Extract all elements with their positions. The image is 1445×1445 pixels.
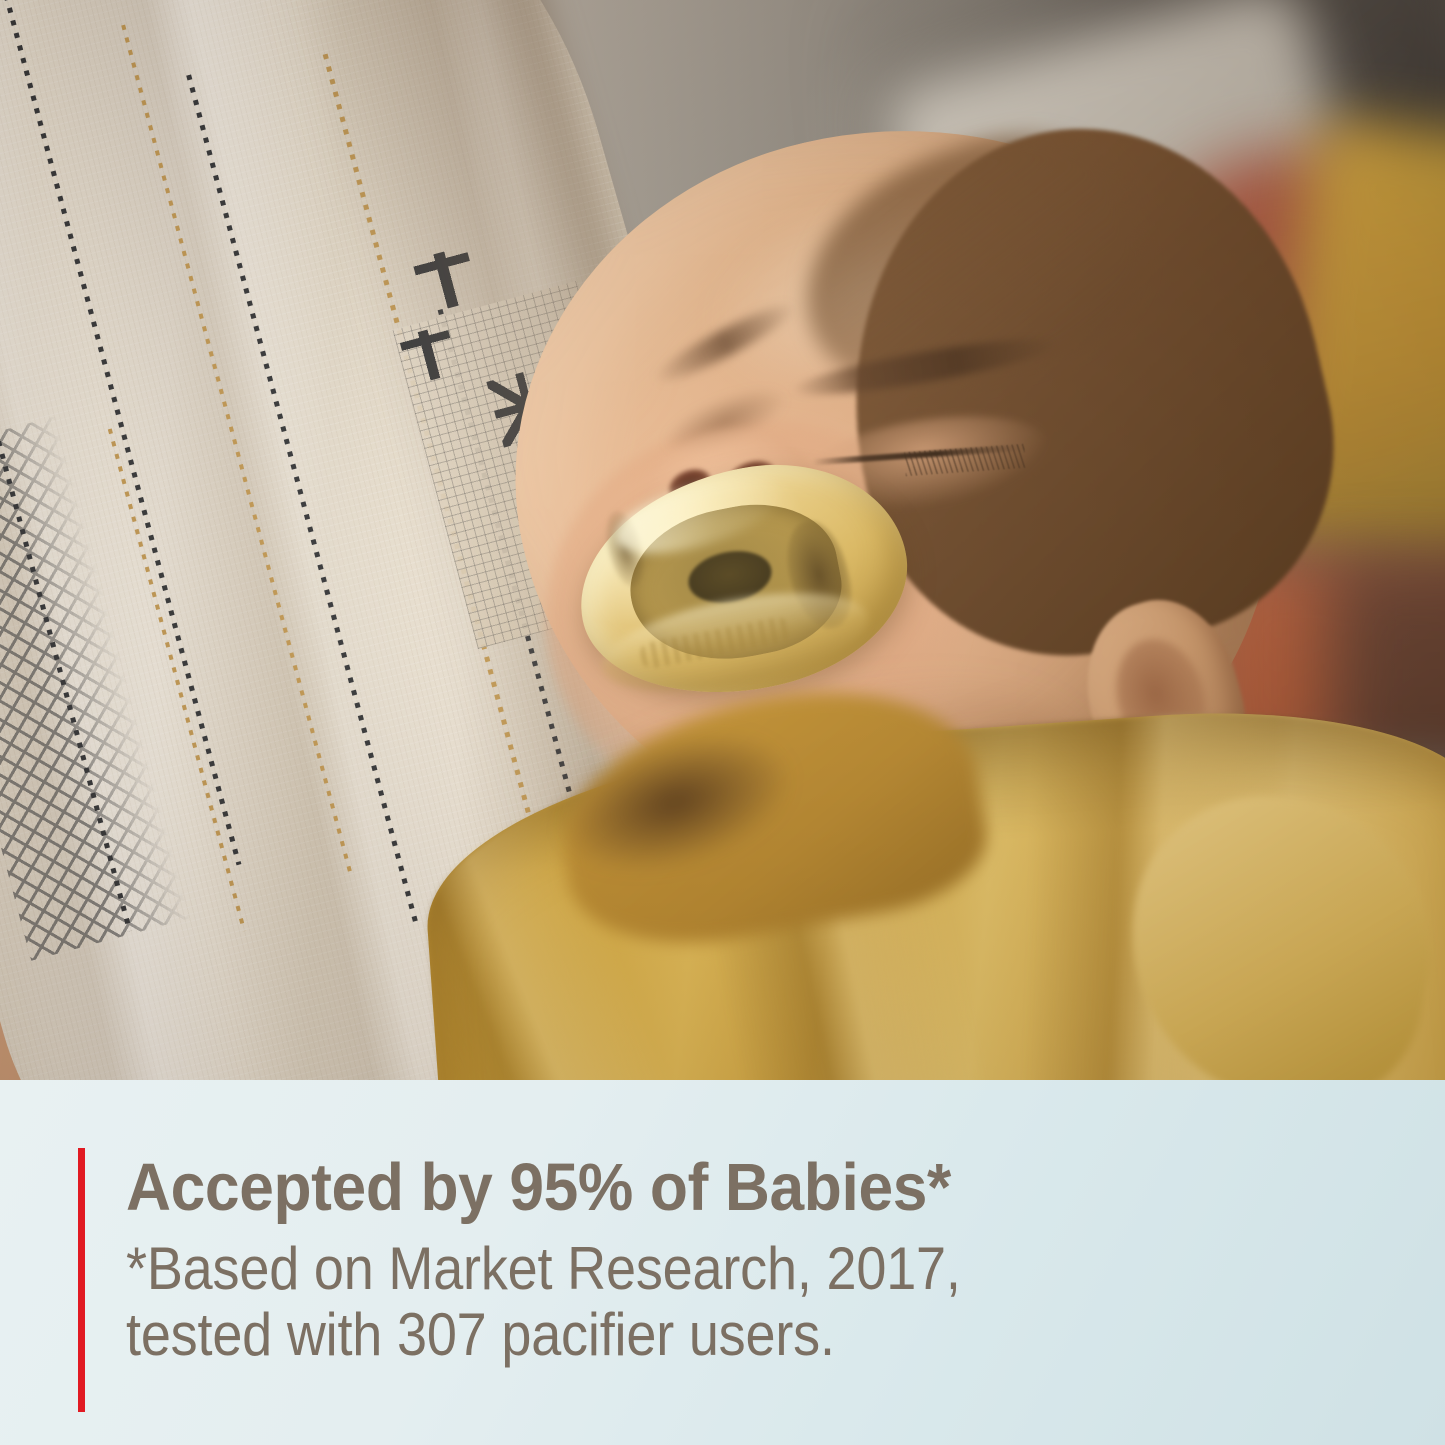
hero-photo <box>0 0 1445 1080</box>
red-accent-bar <box>78 1148 85 1412</box>
claim-footnote: *Based on Market Research, 2017, tested … <box>126 1236 1026 1368</box>
claim-headline: Accepted by 95% of Babies* <box>126 1152 1056 1224</box>
claim-footnote-line-1: *Based on Market Research, 2017, <box>126 1236 1026 1302</box>
claim-copy-block: Accepted by 95% of Babies* *Based on Mar… <box>126 1152 1126 1368</box>
claim-footnote-line-2: tested with 307 pacifier users. <box>126 1302 1026 1368</box>
promo-image: Accepted by 95% of Babies* *Based on Mar… <box>0 0 1445 1445</box>
